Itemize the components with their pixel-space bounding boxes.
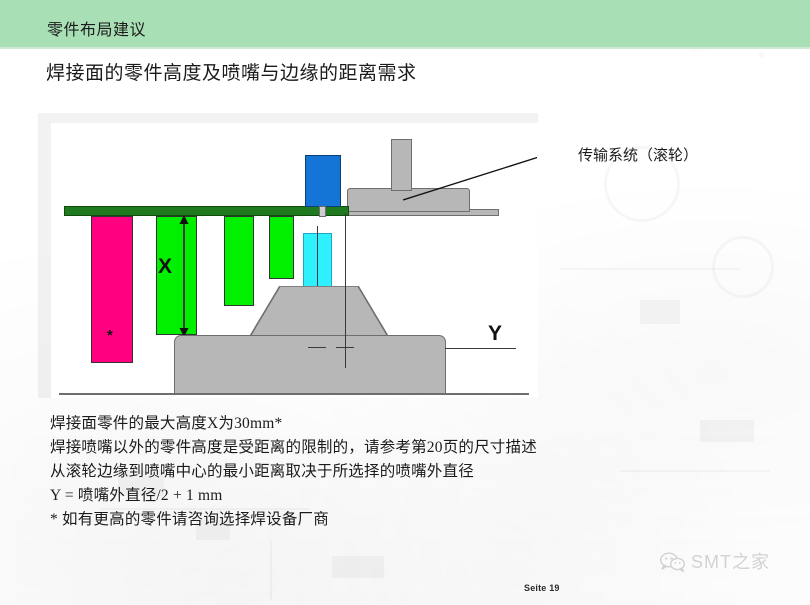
header-title: 零件布局建议 <box>47 16 146 40</box>
pcb-board <box>64 206 349 216</box>
background-chip <box>640 300 680 324</box>
machine-base-block <box>174 335 446 395</box>
body-line: 焊接面零件的最大高度X为30mm* <box>50 412 710 436</box>
body-line: 焊接喷嘴以外的零件高度是受距离的限制的，请参考第20页的尺寸描述 <box>50 436 710 460</box>
page-number: Seite 19 <box>524 583 560 593</box>
watermark: SMT之家 <box>660 552 770 572</box>
component-blue-top <box>305 155 341 207</box>
callout-label-transport-system: 传输系统（滚轮） <box>578 144 698 165</box>
dimension-x-label: X <box>158 256 172 277</box>
page-title: 焊接面的零件高度及喷嘴与边缘的距离需求 <box>46 58 417 85</box>
background-trace <box>270 540 272 600</box>
header-band-underline <box>0 47 810 49</box>
wechat-icon <box>660 552 686 572</box>
background-chip <box>332 556 384 578</box>
dimension-tick-right <box>336 347 354 348</box>
body-line: * 如有更高的零件请咨询选择焊设备厂商 <box>50 508 710 532</box>
dimension-y-line <box>445 348 516 349</box>
body-copy: 焊接面零件的最大高度X为30mm* 焊接喷嘴以外的零件高度是受距离的限制的，请参… <box>50 412 710 532</box>
dimension-tick-left <box>308 347 326 348</box>
callout-leader-line <box>403 143 537 203</box>
footnote-asterisk-marker: * <box>107 328 113 343</box>
dimension-y-label: Y <box>488 323 502 344</box>
ground-baseline <box>59 393 529 395</box>
dimension-x-arrowheads <box>177 215 191 337</box>
diagram-canvas: * X Y <box>51 123 537 395</box>
component-blue-lead <box>319 206 326 217</box>
background-ring <box>712 236 774 298</box>
roller-edge-reference-line <box>345 213 346 368</box>
watermark-text: SMT之家 <box>691 553 770 571</box>
component-green-3 <box>269 216 294 279</box>
slide-canvas: 零件布局建议 焊接面的零件高度及喷嘴与边缘的距离需求 * X <box>0 0 810 605</box>
body-line: Y = 喷嘴外直径/2 + 1 mm <box>50 484 710 508</box>
body-line: 从滚轮边缘到喷嘴中心的最小距离取决于所选择的喷嘴外直径 <box>50 460 710 484</box>
nozzle-riser-trapezoid <box>249 286 389 338</box>
